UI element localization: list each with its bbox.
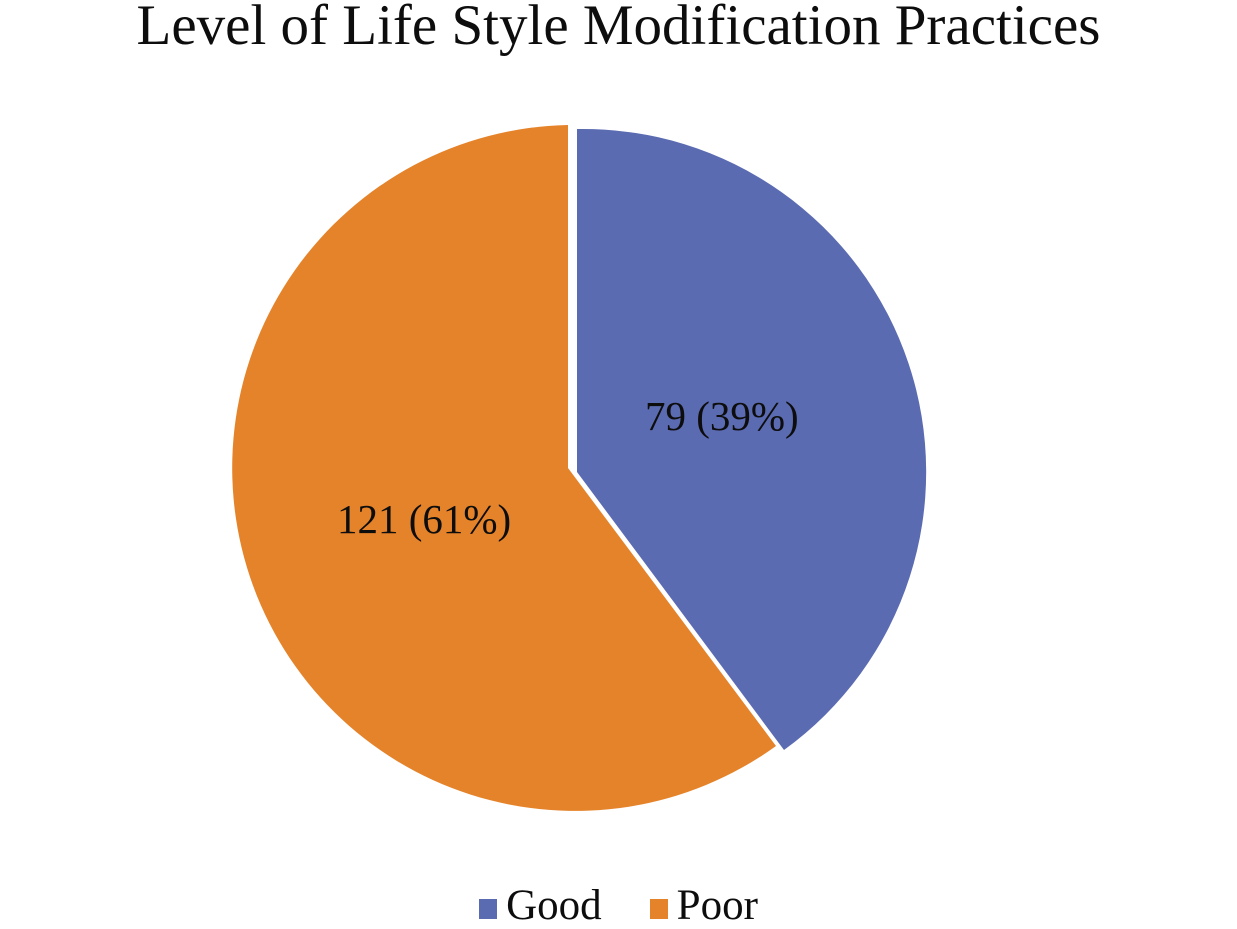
pie-chart-svg — [0, 0, 1237, 880]
legend-label-poor: Poor — [677, 884, 758, 927]
pie-chart-plot-area: 79 (39%) 121 (61%) — [0, 0, 1237, 880]
pie-slice-label-poor: 121 (61%) — [337, 499, 511, 540]
pie-slice-label-good: 79 (39%) — [645, 396, 799, 437]
square-marker-icon-good — [479, 899, 497, 919]
chart-legend: Good Poor — [0, 886, 1237, 923]
square-marker-icon-poor — [650, 899, 668, 919]
legend-label-good: Good — [506, 884, 602, 927]
